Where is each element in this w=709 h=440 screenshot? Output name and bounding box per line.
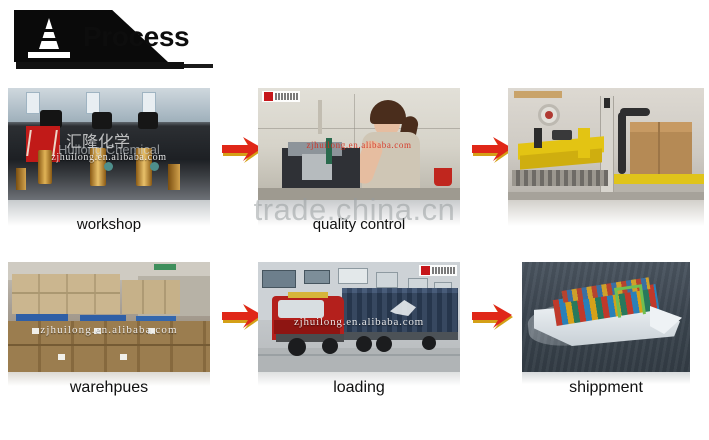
packing-photo [508, 88, 704, 200]
warehouse-photo: zjhuilong.en.alibaba.com [8, 262, 210, 372]
brand-chip-icon [419, 265, 457, 276]
packing-photo-reflection [508, 200, 704, 226]
page-header: Process [0, 0, 709, 78]
caption-loading: loading [258, 379, 460, 397]
quality-control-photo: zjhuilong.en.alibaba.com [258, 88, 460, 200]
caption-warehouse: warehpues [8, 379, 210, 397]
process-step-quality-control: zjhuilong.en.alibaba.com quality control [258, 88, 460, 238]
process-step-packing [508, 88, 704, 238]
loading-photo: zjhuilong.en.alibaba.com [258, 262, 460, 372]
caption-shipment: shippment [522, 379, 690, 397]
shipment-photo [522, 262, 690, 372]
header-underline [16, 62, 184, 69]
process-infographic: Process 汇隆化学 [0, 0, 709, 440]
workshop-photo: 汇隆化学 zjhuilong.en.alibaba.com Huilong Ch… [8, 88, 210, 200]
header-underline-tail [184, 64, 213, 68]
process-step-warehouse: zjhuilong.en.alibaba.com warehpues [8, 262, 210, 402]
caption-workshop: workshop [8, 216, 210, 233]
caption-quality-control: quality control [258, 216, 460, 233]
brand-chip-icon [262, 91, 300, 102]
page-title: Process [83, 21, 189, 53]
right-arrow-icon [472, 303, 514, 333]
process-step-shipment: shippment [522, 262, 690, 402]
process-step-loading: zjhuilong.en.alibaba.com loading [258, 262, 460, 402]
traffic-cone-icon [26, 16, 72, 58]
process-step-workshop: 汇隆化学 zjhuilong.en.alibaba.com Huilong Ch… [8, 88, 210, 238]
